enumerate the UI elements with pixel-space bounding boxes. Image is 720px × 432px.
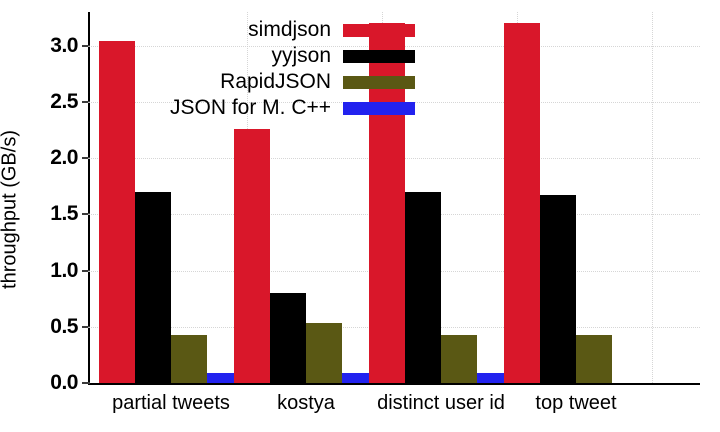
x-axis-label-kostya: kostya xyxy=(277,392,335,415)
bar xyxy=(540,195,576,383)
vertical-gridline xyxy=(652,12,654,383)
legend-color-swatch xyxy=(343,24,415,37)
legend-item: RapidJSON xyxy=(170,70,415,94)
y-tick-label: 1.0 xyxy=(0,259,78,283)
bar xyxy=(234,129,270,383)
bar xyxy=(576,335,612,383)
legend-item: simdjson xyxy=(170,18,415,42)
y-tick-label: 3.0 xyxy=(0,34,78,58)
y-tick-label: 2.5 xyxy=(0,90,78,114)
bar-chart: throughput (GB/s) 0.00.51.01.52.02.53.0 … xyxy=(0,0,720,432)
legend-color-swatch xyxy=(343,50,415,63)
chart-legend: simdjsonyyjsonRapidJSONJSON for M. C++ xyxy=(170,18,415,120)
legend-label: RapidJSON xyxy=(220,70,343,94)
x-axis-label-partial-tweets: partial tweets xyxy=(112,392,230,415)
bar xyxy=(306,323,342,383)
x-axis-label-distinct-user-id: distinct user id xyxy=(377,392,505,415)
y-tick-label: 2.0 xyxy=(0,146,78,170)
legend-item: JSON for M. C++ xyxy=(170,96,415,120)
x-axis-line xyxy=(88,383,700,385)
legend-label: simdjson xyxy=(248,18,343,42)
bar xyxy=(99,41,135,383)
x-axis-label-top-tweet: top tweet xyxy=(535,392,616,415)
y-tick-label: 0.5 xyxy=(0,315,78,339)
legend-label: yyjson xyxy=(272,44,344,68)
legend-item: yyjson xyxy=(170,44,415,68)
bar xyxy=(135,192,171,383)
bar xyxy=(270,293,306,383)
legend-color-swatch xyxy=(343,102,415,115)
y-tick-label: 0.0 xyxy=(0,371,78,395)
legend-color-swatch xyxy=(343,76,415,89)
bar xyxy=(405,192,441,383)
bar xyxy=(171,335,207,383)
y-tick-label: 1.5 xyxy=(0,202,78,226)
bar xyxy=(504,23,540,383)
bar xyxy=(441,335,477,383)
legend-label: JSON for M. C++ xyxy=(170,96,343,120)
